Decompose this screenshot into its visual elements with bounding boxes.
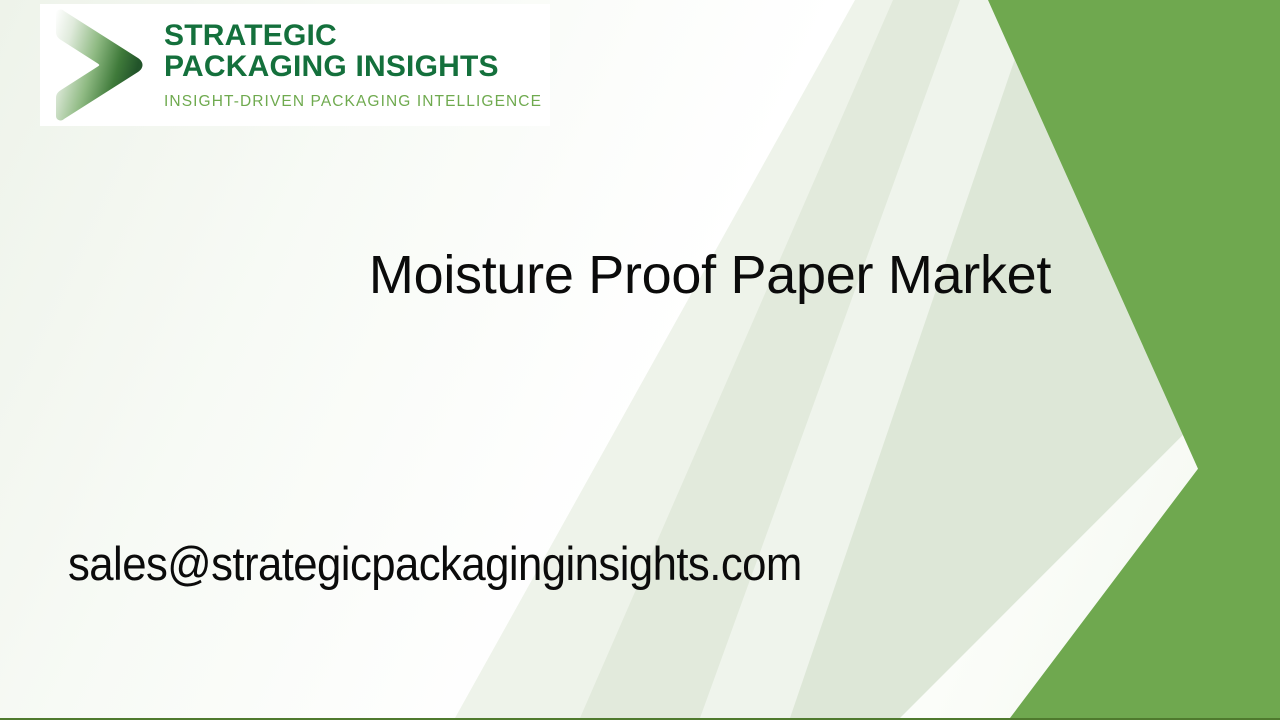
brand-logo: STRATEGIC PACKAGING INSIGHTS INSIGHT-DRI…: [40, 4, 550, 126]
band-mid-2: [790, 0, 1280, 718]
brand-logo-text: STRATEGIC PACKAGING INSIGHTS INSIGHT-DRI…: [158, 19, 550, 111]
brand-name-line-1: STRATEGIC: [164, 21, 550, 52]
band-mid: [580, 0, 1280, 718]
band-outer-light: [455, 0, 1280, 718]
accent-green-chevron: [988, 0, 1280, 718]
slide-canvas: STRATEGIC PACKAGING INSIGHTS INSIGHT-DRI…: [0, 0, 1280, 720]
brand-tagline: INSIGHT-DRIVEN PACKAGING INTELLIGENCE: [164, 93, 550, 111]
contact-email: sales@strategicpackaginginsights.com: [68, 536, 802, 591]
band-inner-notch: [700, 0, 1280, 718]
brand-name-line-2: PACKAGING INSIGHTS: [164, 52, 550, 83]
page-title: Moisture Proof Paper Market: [330, 248, 1090, 302]
chevron-right-icon: [40, 6, 158, 124]
